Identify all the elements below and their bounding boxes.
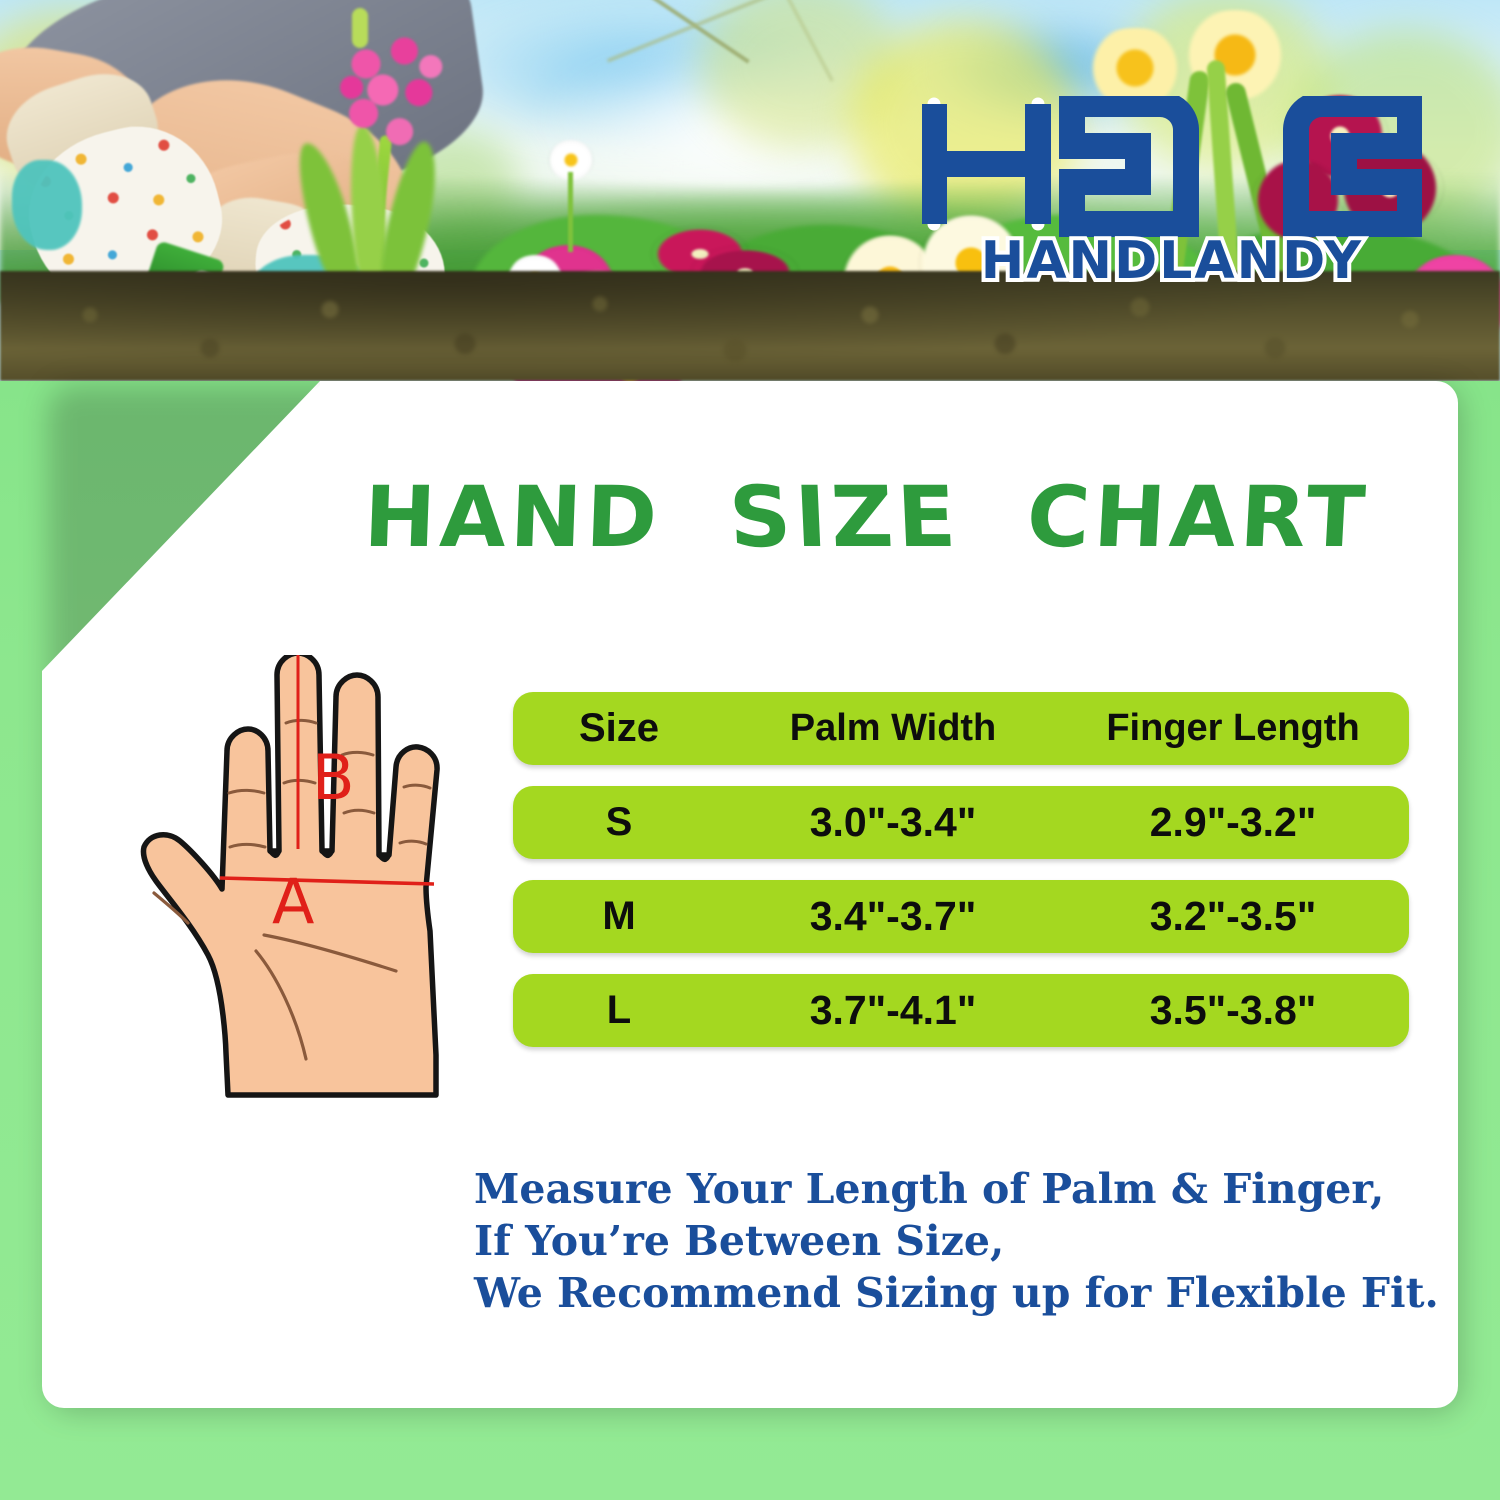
glove-back xyxy=(12,160,82,250)
table-header-row: Size Palm Width Finger Length xyxy=(513,692,1409,765)
column-header-finger-length: Finger Length xyxy=(1061,707,1405,750)
hand-measurement-diagram: B A xyxy=(96,655,496,1135)
poster-canvas: HANDLANDY HAND SIZE CHART xyxy=(0,0,1500,1500)
column-header-size: Size xyxy=(513,706,725,751)
table-row: S 3.0"-3.4" 2.9"-3.2" xyxy=(513,786,1409,859)
note-line-1: Measure Your Length of Palm & Finger, xyxy=(474,1163,1404,1215)
hyacinth-bloom xyxy=(330,25,450,155)
size-table: Size Palm Width Finger Length S 3.0"-3.4… xyxy=(513,692,1409,1068)
table-row: L 3.7"-4.1" 3.5"-3.8" xyxy=(513,974,1409,1047)
note-line-3: We Recommend Sizing up for Flexible Fit. xyxy=(474,1267,1404,1319)
handlandy-logo: HANDLANDY xyxy=(922,96,1422,286)
note-line-2: If You’re Between Size, xyxy=(474,1215,1404,1267)
cell-size: M xyxy=(513,894,725,939)
cell-finger-length: 3.2"-3.5" xyxy=(1061,893,1405,940)
cell-palm-width: 3.0"-3.4" xyxy=(725,799,1061,846)
cell-palm-width: 3.4"-3.7" xyxy=(725,893,1061,940)
bud xyxy=(352,8,368,48)
cell-size: S xyxy=(513,800,725,845)
title-word-1: HAND xyxy=(362,468,663,566)
table-row: M 3.4"-3.7" 3.2"-3.5" xyxy=(513,880,1409,953)
measure-label-a: A xyxy=(272,865,314,938)
logo-wordmark: HANDLANDY xyxy=(981,231,1363,286)
cell-finger-length: 3.5"-3.8" xyxy=(1061,987,1405,1034)
title-word-2: SIZE xyxy=(727,468,962,566)
measure-label-b: B xyxy=(312,741,355,814)
sizing-notes: Measure Your Length of Palm & Finger, If… xyxy=(474,1163,1404,1319)
page-title: HAND SIZE CHART xyxy=(364,468,1369,566)
column-header-palm-width: Palm Width xyxy=(725,707,1061,750)
daisy-stem xyxy=(568,172,573,252)
title-word-3: CHART xyxy=(1025,468,1372,566)
soil-texture xyxy=(0,271,1500,381)
cell-size: L xyxy=(513,988,725,1033)
cell-finger-length: 2.9"-3.2" xyxy=(1061,799,1405,846)
cell-palm-width: 3.7"-4.1" xyxy=(725,987,1061,1034)
